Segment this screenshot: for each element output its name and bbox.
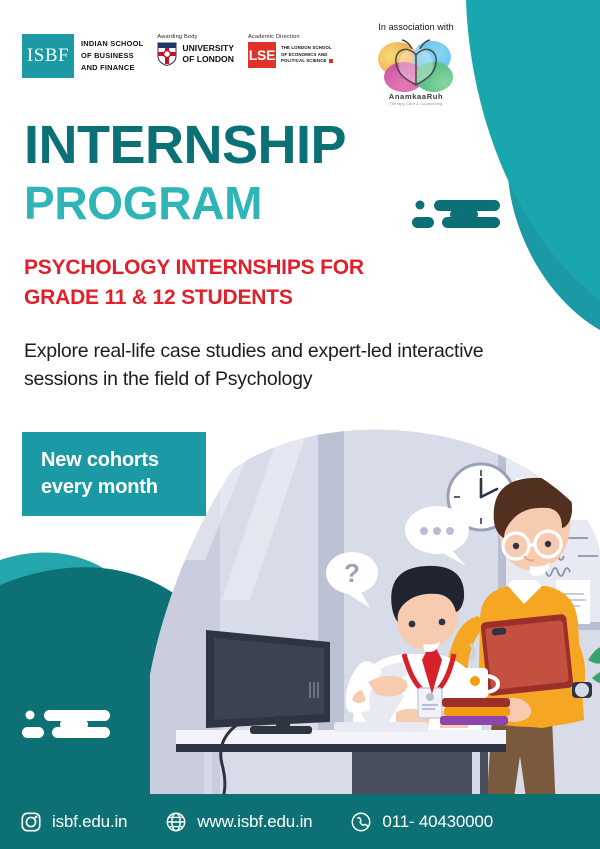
uol-line-2: OF LONDON [182, 54, 234, 65]
isbf-line-1: INDIAN SCHOOL [81, 38, 143, 50]
lse-line-2: OF ECONOMICS AND [281, 52, 333, 59]
contact-footer: isbf.edu.in www.isbf.edu.in 011- 4043000… [0, 794, 600, 849]
association-block: In association with [357, 22, 475, 106]
contact-instagram[interactable]: isbf.edu.in [20, 811, 127, 833]
contact-phone-text: 011- 40430000 [382, 812, 493, 832]
butterfly-logo-svg [368, 35, 464, 97]
isbf-logo: ISBF INDIAN SCHOOL OF BUSINESS AND FINAN… [22, 34, 143, 78]
poster-canvas: ? [0, 0, 600, 849]
uol-line-1: UNIVERSITY [182, 43, 234, 54]
description-text: Explore real-life case studies and exper… [24, 337, 524, 394]
isbf-wordmark: INDIAN SCHOOL OF BUSINESS AND FINANCE [81, 38, 143, 74]
academic-direction-logo: Academic Direction LSE THE LONDON SCHOOL… [248, 34, 333, 68]
isbf-line-2: OF BUSINESS [81, 50, 143, 62]
contact-phone[interactable]: 011- 40430000 [350, 811, 493, 833]
uol-wordmark: UNIVERSITY OF LONDON [182, 43, 234, 65]
cohort-badge: New cohorts every month [22, 432, 206, 516]
isbf-mark: ISBF [22, 34, 74, 78]
isbf-line-3: AND FINANCE [81, 62, 143, 74]
lse-square-icon [329, 59, 333, 63]
globe-icon [165, 811, 187, 833]
lse-wordmark: THE LONDON SCHOOL OF ECONOMICS AND POLIT… [281, 45, 333, 65]
page-title-line-2: PROGRAM [24, 180, 262, 226]
dash-dot-motif-icon [22, 706, 114, 742]
phone-icon [350, 811, 372, 833]
cohort-badge-line-2: every month [41, 474, 206, 501]
association-tagline: Therapy Care & Counselling [357, 102, 475, 106]
accreditation-logo-row: ISBF INDIAN SCHOOL OF BUSINESS AND FINAN… [22, 34, 333, 78]
uol-crest-icon [157, 42, 177, 66]
lse-line-1: THE LONDON SCHOOL [281, 45, 333, 52]
butterfly-logo-icon [368, 35, 464, 97]
contact-instagram-text: isbf.edu.in [52, 812, 127, 832]
awarding-body-caption: Awarding Body [157, 34, 234, 40]
cohort-badge-line-1: New cohorts [41, 447, 206, 474]
lse-mark: LSE [248, 42, 276, 68]
lse-line-3: POLITICAL SCIENCE [281, 58, 333, 65]
page-title-line-1: INTERNSHIP [24, 118, 346, 172]
association-caption: In association with [357, 22, 475, 32]
awarding-body-logo: Awarding Body UNIVERSITY OF LONDON [157, 34, 234, 66]
academic-direction-caption: Academic Direction [248, 34, 333, 40]
shape-dark-teal-blob [0, 567, 246, 800]
contact-website-text: www.isbf.edu.in [197, 812, 312, 832]
instagram-icon [20, 811, 42, 833]
contact-website[interactable]: www.isbf.edu.in [165, 811, 312, 833]
dash-dot-motif-icon [412, 196, 504, 232]
subheading: PSYCHOLOGY INTERNSHIPS FOR GRADE 11 & 12… [24, 253, 444, 313]
